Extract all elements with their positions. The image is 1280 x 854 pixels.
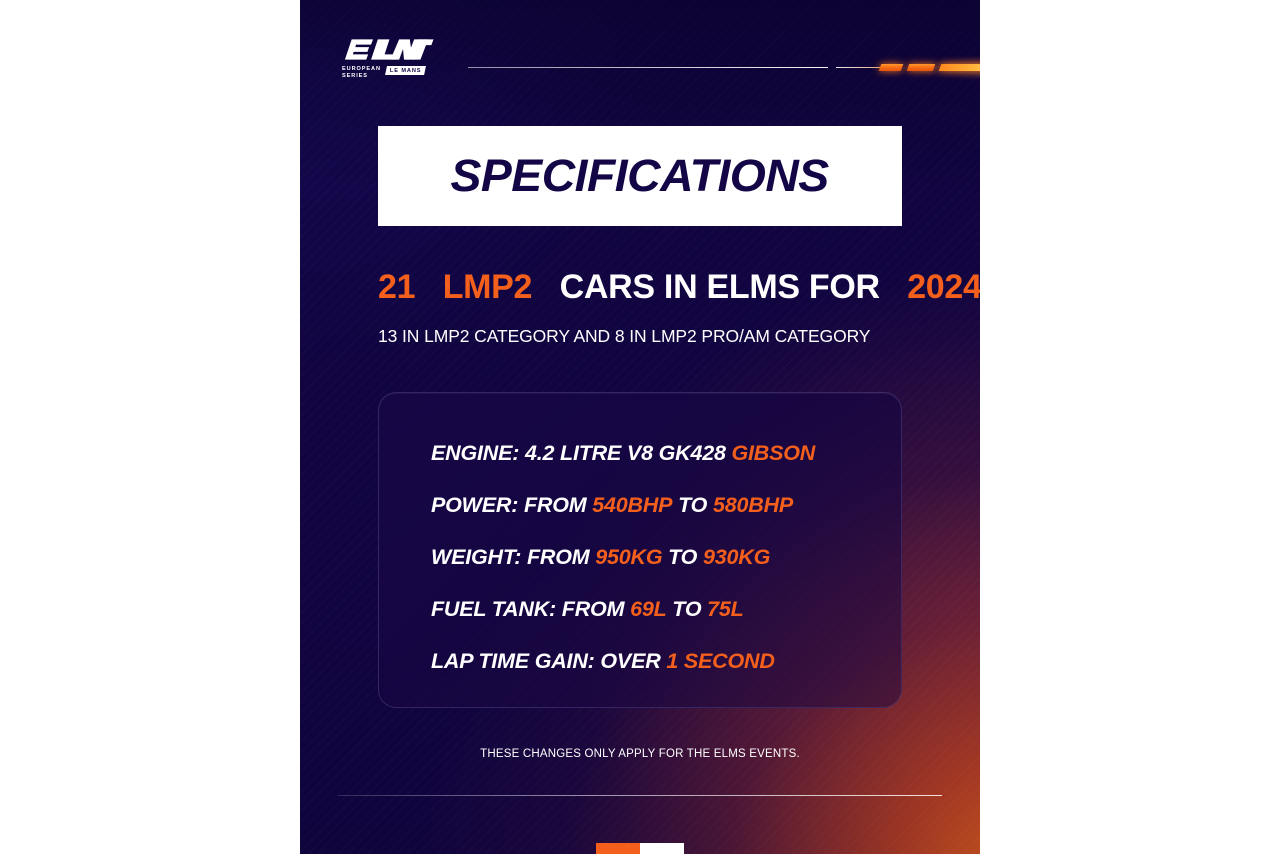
spec-label: LAP TIME GAIN: [431,649,595,674]
spec-highlight-2: 75L [707,597,743,622]
elms-specifications-poster: EUROPEAN SERIES LE MANS SPECIFICATIONS 2… [300,0,980,854]
bottom-tab-group [300,843,980,854]
headline-count: 21 [378,268,415,306]
spec-value: 4.2 LITRE V8 GK428 [525,441,726,466]
spec-tail: TO [672,597,701,622]
elms-logo: EUROPEAN SERIES LE MANS [342,36,438,80]
poster-header: EUROPEAN SERIES LE MANS [300,0,980,110]
spec-row-fuel-tank: FUEL TANK: FROM 69L TO 75L [431,583,881,635]
spec-highlight: GIBSON [732,441,816,466]
spec-label: FUEL TANK: [431,597,556,622]
specifications-card: ENGINE: 4.2 LITRE V8 GK428 GIBSON POWER:… [378,392,902,708]
spec-tail: TO [678,493,707,518]
elms-wordmark-icon [342,36,434,62]
spec-row-lap-time-gain: LAP TIME GAIN: OVER 1 SECOND [431,635,881,687]
sub-headline: 13 IN LMP2 CATEGORY AND 8 IN LMP2 PRO/AM… [378,325,902,347]
headline-year: 2024 [907,268,980,306]
spec-tail: TO [668,545,697,570]
footnote: THESE CHANGES ONLY APPLY FOR THE ELMS EV… [300,748,980,760]
header-rule-dash-3 [939,64,980,71]
spec-row-engine: ENGINE: 4.2 LITRE V8 GK428 GIBSON [431,427,881,479]
spec-highlight-2: 930KG [703,545,770,570]
bottom-tab-white [640,843,684,854]
header-rule-dash-2 [907,64,936,71]
spec-highlight: 1 SECOND [666,649,774,674]
headline: 21 LMP2 CARS IN ELMS FOR 2024 [378,268,902,306]
spec-label: ENGINE: [431,441,519,466]
spec-value: FROM [524,493,587,518]
header-speed-rule [468,64,938,71]
spec-label: WEIGHT: [431,545,521,570]
spec-highlight: 69L [630,597,666,622]
spec-row-power: POWER: FROM 540BHP TO 580BHP [431,479,881,531]
bottom-tab-orange [596,843,640,854]
headline-class: LMP2 [443,268,532,306]
spec-highlight: 540BHP [592,493,672,518]
elms-logo-series-text: EUROPEAN SERIES [342,66,381,80]
title-plate: SPECIFICATIONS [378,126,902,226]
spec-label: POWER: [431,493,518,518]
spec-highlight: 950KG [595,545,662,570]
footer-rule [338,795,942,796]
headline-middle: CARS IN ELMS FOR [560,268,880,306]
page-title: SPECIFICATIONS [451,150,829,202]
elms-logo-lemans-badge: LE MANS [385,66,426,75]
spec-value: FROM [527,545,590,570]
spec-highlight-2: 580BHP [713,493,793,518]
header-rule-line [468,67,828,68]
spec-value: OVER [600,649,660,674]
spec-value: FROM [562,597,625,622]
header-rule-dash-1 [879,64,904,71]
specifications-list: ENGINE: 4.2 LITRE V8 GK428 GIBSON POWER:… [431,427,881,687]
spec-row-weight: WEIGHT: FROM 950KG TO 930KG [431,531,881,583]
